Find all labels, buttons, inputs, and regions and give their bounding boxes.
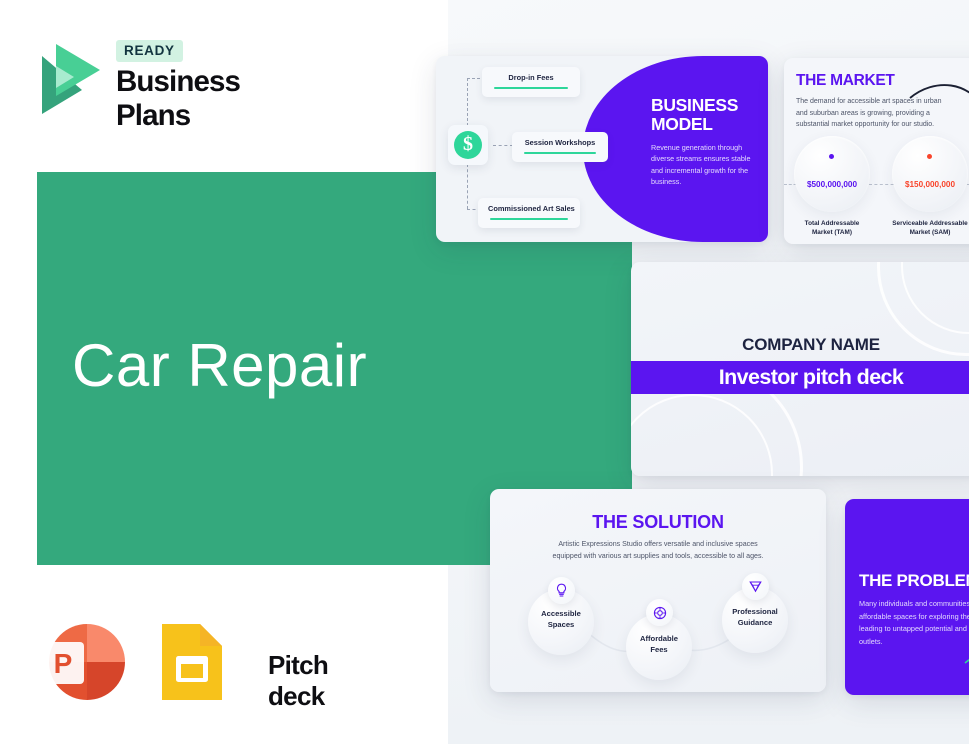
diamond-icon	[742, 573, 769, 600]
metric-value: $150,000,000	[888, 180, 969, 189]
pitch-deck-title-band: Investor pitch deck	[631, 361, 969, 394]
problem-title: THE PROBLEM	[859, 571, 969, 591]
page-title: Car Repair	[72, 336, 367, 396]
google-slides-icon	[162, 624, 222, 700]
lightbulb-icon	[548, 577, 575, 604]
connector-vertical-down	[467, 164, 468, 209]
pitch-deck-subtitle: Investor pitch deck	[719, 365, 904, 390]
curved-arrow-icon	[908, 78, 969, 132]
metric-caption: Serviceable AddressableMarket (SAM)	[880, 220, 969, 238]
preview-canvas: Car Repair READY Business Plans BUSINESS…	[0, 0, 969, 744]
problem-decorative-arrow-icon	[963, 649, 969, 685]
metric-dot	[829, 154, 834, 159]
powerpoint-icon: P	[42, 624, 125, 700]
target-circle-icon	[646, 599, 673, 626]
market-metric-circle	[794, 136, 870, 212]
node-label-line1: Affordable	[640, 634, 678, 643]
slide-card-pitch-deck[interactable]: COMPANY NAME Investor pitch deck	[631, 262, 969, 476]
metric-caption-line2: Market (TAM)	[812, 229, 852, 236]
metric-dot	[927, 154, 932, 159]
play-triangle-logo-icon	[38, 40, 106, 118]
revenue-stream-label: Session Workshops	[522, 138, 598, 147]
brand-name: Business Plans	[116, 65, 240, 133]
node-label-line1: Accessible	[541, 609, 581, 618]
metric-caption-line1: Total Addressable	[805, 220, 860, 227]
business-model-title: BUSINESS MODEL	[651, 96, 763, 135]
node-label: AccessibleSpaces	[530, 609, 592, 631]
node-label-line2: Guidance	[738, 618, 773, 627]
metric-caption-line2: Market (SAM)	[910, 229, 951, 236]
revenue-stream-chip[interactable]: Session Workshops	[512, 132, 608, 162]
brand-text-block: READY Business Plans	[116, 40, 240, 133]
solution-description: Artistic Expressions Studio offers versa…	[552, 539, 764, 563]
svg-text:P: P	[54, 648, 73, 679]
revenue-stream-chip[interactable]: Drop-in Fees	[482, 67, 580, 97]
business-model-icon-box: $	[448, 125, 488, 165]
node-label: AffordableFees	[628, 634, 690, 656]
market-metric-circle	[892, 136, 968, 212]
pitch-deck-company-name: COMPANY NAME	[631, 335, 969, 355]
node-label-line1: Professional	[732, 607, 778, 616]
metric-value: $500,000,000	[790, 180, 874, 189]
business-model-description: Revenue generation through diverse strea…	[651, 142, 763, 189]
node-label: ProfessionalGuidance	[720, 607, 790, 629]
revenue-stream-chip[interactable]: Commissioned Art Sales	[478, 198, 580, 228]
metric-caption-line1: Serviceable Addressable	[892, 220, 967, 227]
node-label-line2: Spaces	[548, 620, 575, 629]
slide-card-problem[interactable]: THE PROBLEM Many individuals and communi…	[845, 499, 969, 695]
solution-title: THE SOLUTION	[490, 512, 826, 533]
slide-card-market[interactable]: THE MARKET The demand for accessible art…	[784, 58, 969, 244]
revenue-stream-label: Commissioned Art Sales	[488, 204, 570, 213]
dollar-coin-icon: $	[454, 131, 482, 159]
connector-middle-horizontal	[493, 145, 513, 146]
chip-underline	[524, 152, 596, 154]
problem-description: Many individuals and communities lack ac…	[859, 598, 969, 648]
footer-label: Pitch deck	[268, 650, 328, 712]
chip-underline	[490, 218, 568, 220]
format-icon-group: P	[38, 616, 250, 707]
chip-underline	[494, 87, 568, 89]
slide-card-solution[interactable]: THE SOLUTION Artistic Expressions Studio…	[490, 489, 826, 692]
ready-badge: READY	[116, 40, 183, 62]
node-label-line2: Fees	[650, 645, 667, 654]
metric-caption: Total AddressableMarket (TAM)	[788, 220, 876, 238]
revenue-stream-label: Drop-in Fees	[492, 73, 570, 82]
